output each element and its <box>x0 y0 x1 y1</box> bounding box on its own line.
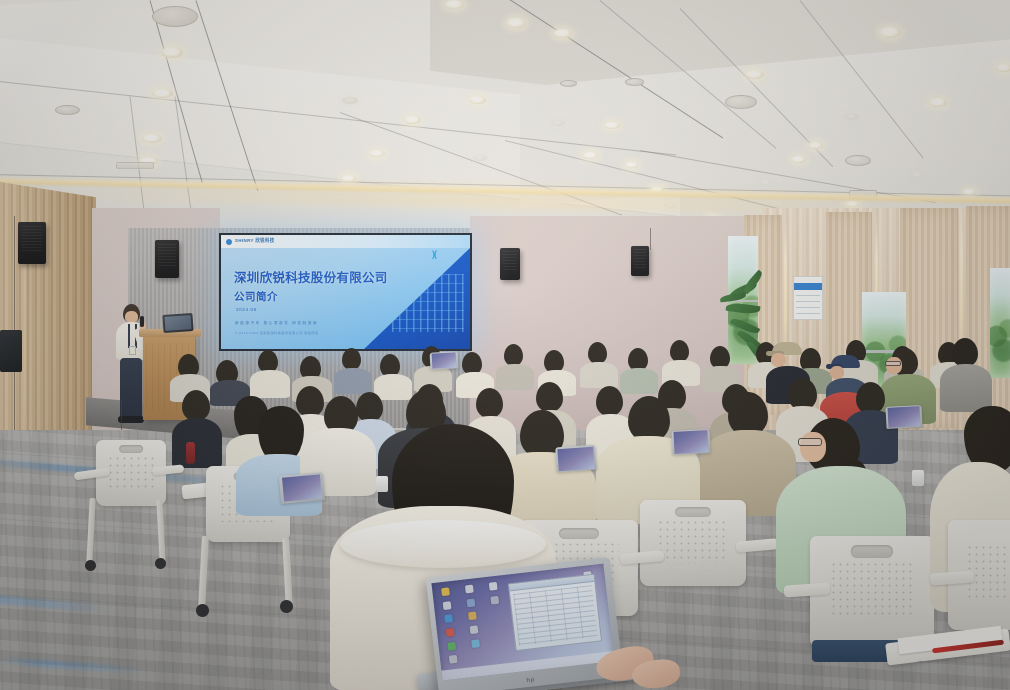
projection-screen: SHINRY 欣锐科技 )( 深圳欣锐科技股份有限公司 公司简介 2024.08… <box>219 233 472 351</box>
slide-blue-graphic <box>362 248 470 349</box>
company-logo-icon <box>226 239 232 245</box>
downlight <box>161 47 183 58</box>
audience-face <box>771 353 786 367</box>
ceiling <box>0 0 1010 232</box>
slide-title: 深圳欣锐科技股份有限公司 <box>234 267 388 286</box>
downlight <box>583 152 598 159</box>
podium-laptop <box>162 313 193 333</box>
chair-handle <box>119 445 143 453</box>
audience-torso <box>940 364 992 412</box>
air-vent <box>116 162 154 169</box>
wall-poster <box>793 276 823 320</box>
downlight <box>404 116 421 124</box>
foreground-laptop[interactable]: hp <box>426 557 623 690</box>
downlight <box>469 96 486 104</box>
audience-head <box>670 340 689 362</box>
desktop-icon[interactable] <box>471 639 480 648</box>
desktop-icon[interactable] <box>448 655 457 664</box>
desktop-icon[interactable] <box>469 625 478 634</box>
laptop-screen[interactable] <box>558 446 595 470</box>
ceiling-speaker-icon <box>725 95 757 109</box>
downlight <box>473 155 487 161</box>
conference-room-photo: SHINRY 欣锐科技 )( 深圳欣锐科技股份有限公司 公司简介 2024.08… <box>0 0 1010 690</box>
downlight <box>929 98 947 107</box>
downlight <box>808 142 823 149</box>
wall-speaker-icon <box>18 222 46 264</box>
laptop-screen[interactable] <box>431 564 614 681</box>
audience-face <box>800 432 826 462</box>
slide-tagline: 新能源汽车 核心零部件 研发制造商 <box>235 321 318 326</box>
downlight <box>604 122 620 129</box>
downlight <box>551 120 565 126</box>
downlight <box>844 113 859 120</box>
poster-text-lines <box>796 295 820 316</box>
chair-caster <box>280 600 293 613</box>
glasses-icon <box>885 361 901 366</box>
audience-head <box>588 342 607 364</box>
downlight <box>369 150 385 157</box>
chair-caster <box>85 560 96 571</box>
training-chair[interactable] <box>640 500 746 586</box>
ceiling-speaker-icon <box>152 6 198 27</box>
poster-header-band <box>794 283 822 291</box>
taskbar[interactable] <box>441 651 614 680</box>
microphone-cable <box>121 400 122 430</box>
laptop-screen[interactable] <box>431 352 456 368</box>
slide-subtitle: 公司简介 <box>234 289 278 304</box>
downlight <box>152 89 173 98</box>
audience-torso <box>172 418 222 468</box>
audience-head <box>182 390 210 421</box>
wall-speaker-icon <box>155 240 179 278</box>
laptop-screen[interactable] <box>674 431 709 454</box>
wall-speaker-icon <box>631 246 649 276</box>
chair-handle <box>675 507 711 517</box>
desktop-icon[interactable] <box>441 587 450 596</box>
speaker-cable <box>650 228 651 250</box>
chair-caster <box>155 558 166 569</box>
attendee-laptop[interactable] <box>555 445 597 473</box>
foreground-woman-ruffle <box>340 520 546 568</box>
downlight <box>142 134 162 143</box>
open-application-window[interactable] <box>508 574 602 652</box>
downlight <box>911 172 924 178</box>
audience-head <box>504 344 523 366</box>
spreadsheet-grid[interactable] <box>513 586 598 647</box>
desktop-icon[interactable] <box>444 614 453 623</box>
ceiling-speaker-icon <box>560 80 577 87</box>
attendee-laptop[interactable] <box>885 405 922 429</box>
downlight <box>506 18 526 28</box>
wall-monitor <box>0 330 22 372</box>
desktop-icon[interactable] <box>490 595 499 604</box>
carpet-blue-accent <box>0 591 110 614</box>
presenter-badge <box>129 346 136 355</box>
audience-man-grey-right <box>940 338 992 412</box>
water-cup <box>912 470 924 486</box>
chair-handle <box>851 545 893 558</box>
slide-bracket-mark: )( <box>432 249 436 259</box>
desktop-icon[interactable] <box>465 584 474 593</box>
downlight <box>745 70 764 79</box>
laptop-screen[interactable] <box>282 474 323 502</box>
desktop-icon[interactable] <box>445 628 454 637</box>
presenter-trousers <box>120 358 142 418</box>
desktop-icon[interactable] <box>489 582 498 591</box>
desktop-icon[interactable] <box>447 642 456 651</box>
desktop-icon[interactable] <box>466 598 475 607</box>
slide-header-band: SHINRY 欣锐科技 <box>221 235 470 248</box>
attendee-laptop[interactable] <box>430 351 459 369</box>
ceiling-speaker-icon <box>845 155 871 166</box>
company-logo-text: SHINRY 欣锐科技 <box>235 238 275 245</box>
microphone-icon <box>140 316 144 327</box>
downlight <box>791 156 806 163</box>
ceiling-speaker-icon <box>55 105 80 115</box>
audience-head <box>536 382 563 412</box>
downlight <box>879 27 901 38</box>
audience-head <box>952 338 978 367</box>
downlight <box>342 97 358 104</box>
chair-caster <box>196 604 209 617</box>
slide-footnote: © 2015-2024 深圳欣锐科技股份有限公司 版权所有 <box>235 330 319 335</box>
desktop-icon[interactable] <box>442 601 451 610</box>
hp-logo-icon: hp <box>526 677 535 684</box>
desktop-icon[interactable] <box>468 612 477 621</box>
downlight <box>445 0 464 9</box>
laptop-screen[interactable] <box>888 406 921 427</box>
presentation-slide: SHINRY 欣锐科技 )( 深圳欣锐科技股份有限公司 公司简介 2024.08… <box>221 235 470 349</box>
wall-speaker-icon <box>500 248 520 280</box>
ceiling-speaker-icon <box>625 78 644 86</box>
attendee-laptop[interactable] <box>671 429 710 455</box>
water-cup <box>376 476 388 492</box>
downlight <box>625 162 639 168</box>
slide-date: 2024.08 <box>236 307 257 312</box>
downlight <box>996 64 1010 72</box>
downlight <box>553 29 572 38</box>
attendee-laptop[interactable] <box>279 472 325 504</box>
glasses-icon <box>798 438 822 446</box>
chair-handle <box>559 528 599 540</box>
audience-head <box>342 348 361 370</box>
carpet-blue-accent <box>0 657 146 674</box>
water-bottle <box>186 442 195 464</box>
